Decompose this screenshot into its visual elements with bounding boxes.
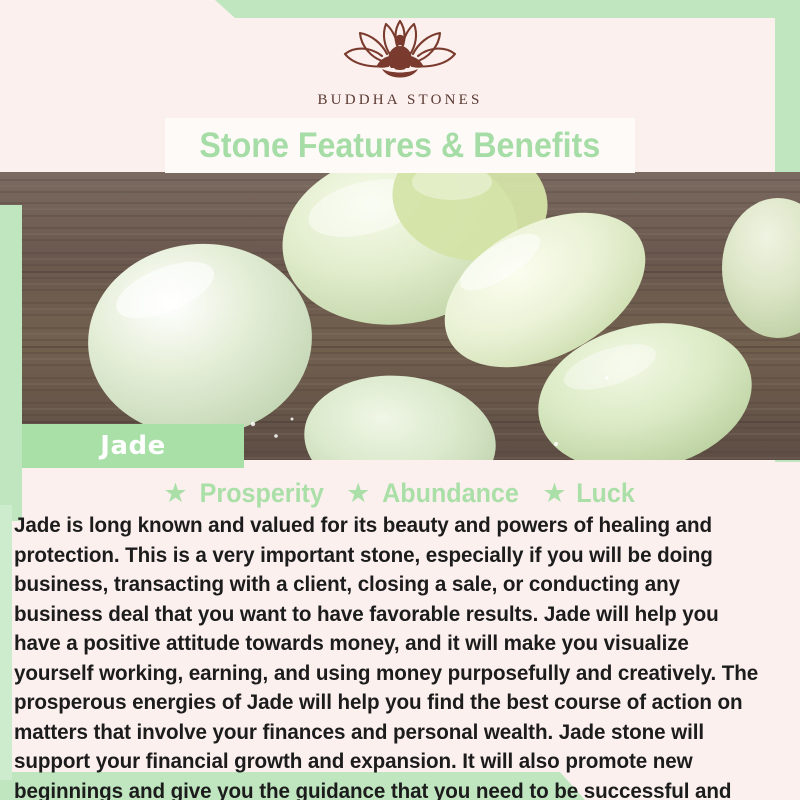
brand-name: BUDDHA STONES (317, 92, 482, 109)
stone-photo (0, 172, 800, 460)
star-icon: ★ (346, 480, 370, 507)
star-icon: ★ (163, 480, 187, 507)
brand-logo: BUDDHA STONES (317, 16, 482, 109)
title-banner: Stone Features & Benefits (165, 118, 635, 173)
stone-name-label: Jade (100, 431, 165, 461)
star-icon: ★ (542, 480, 566, 507)
jade-stones-illustration (0, 172, 800, 460)
lotus-meditation-icon (325, 16, 475, 88)
decor-left-lower-green-strip (0, 505, 12, 780)
stone-name-band: Jade (22, 424, 244, 468)
keyword-label: Luck (576, 478, 635, 509)
keyword-item: ★ Luck (542, 478, 636, 509)
keyword-label: Prosperity (199, 478, 323, 509)
keyword-label: Abundance (383, 478, 520, 509)
keyword-item: ★ Abundance (346, 478, 524, 509)
keyword-row: ★ Prosperity ★ Abundance ★ Luck (0, 478, 800, 509)
keyword-item: ★ Prosperity (163, 478, 328, 509)
brand-header: BUDDHA STONES (0, 0, 800, 118)
stone-description: Jade is long known and valued for its be… (14, 510, 759, 800)
page-title: Stone Features & Benefits (200, 126, 601, 166)
infographic-page: BUDDHA STONES Stone Features & Benefits (0, 0, 800, 800)
decor-left-green-strip (0, 205, 22, 521)
